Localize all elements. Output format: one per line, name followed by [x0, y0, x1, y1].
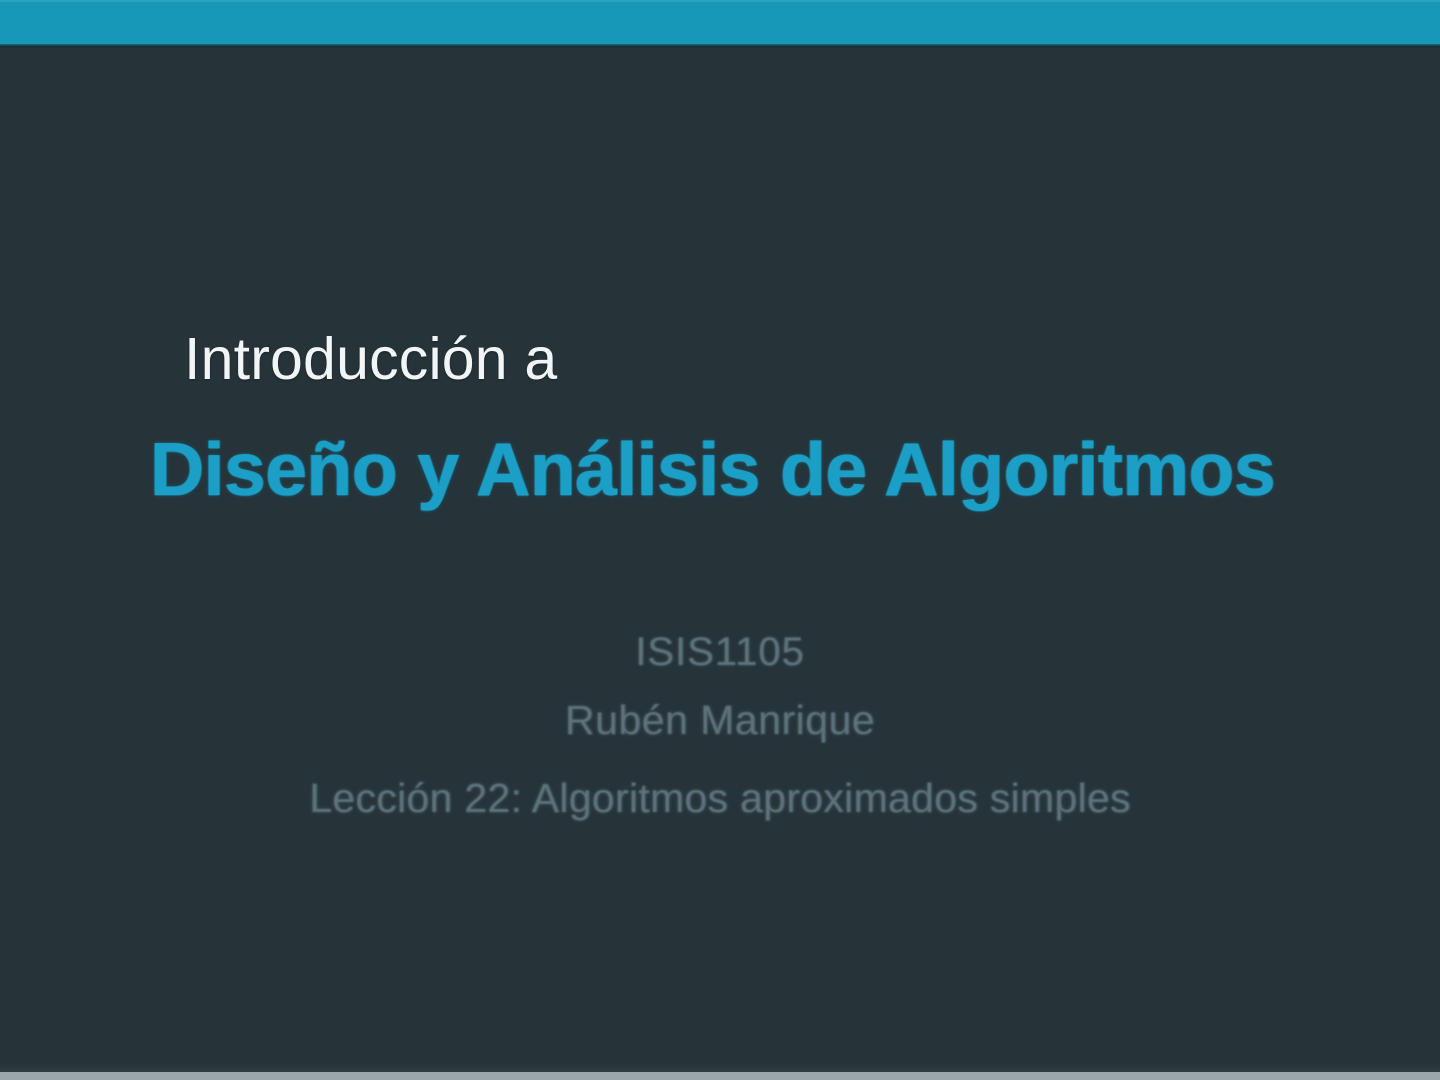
slide-main-title: Diseño y Análisis de Algoritmos — [150, 432, 1275, 507]
slide-author-name: Rubén Manrique — [0, 700, 1440, 741]
top-accent-band — [0, 0, 1440, 44]
bottom-strip-shadow — [0, 1064, 1440, 1072]
top-accent-band-shadow — [0, 44, 1440, 48]
slide-course-code: ISIS1105 — [0, 632, 1440, 672]
slide-intro-line: Introducción a — [184, 330, 557, 389]
title-slide: Introducción a Diseño y Análisis de Algo… — [0, 0, 1440, 1080]
bottom-strip — [0, 1072, 1440, 1080]
slide-lesson-title: Lección 22: Algoritmos aproximados simpl… — [0, 778, 1440, 819]
